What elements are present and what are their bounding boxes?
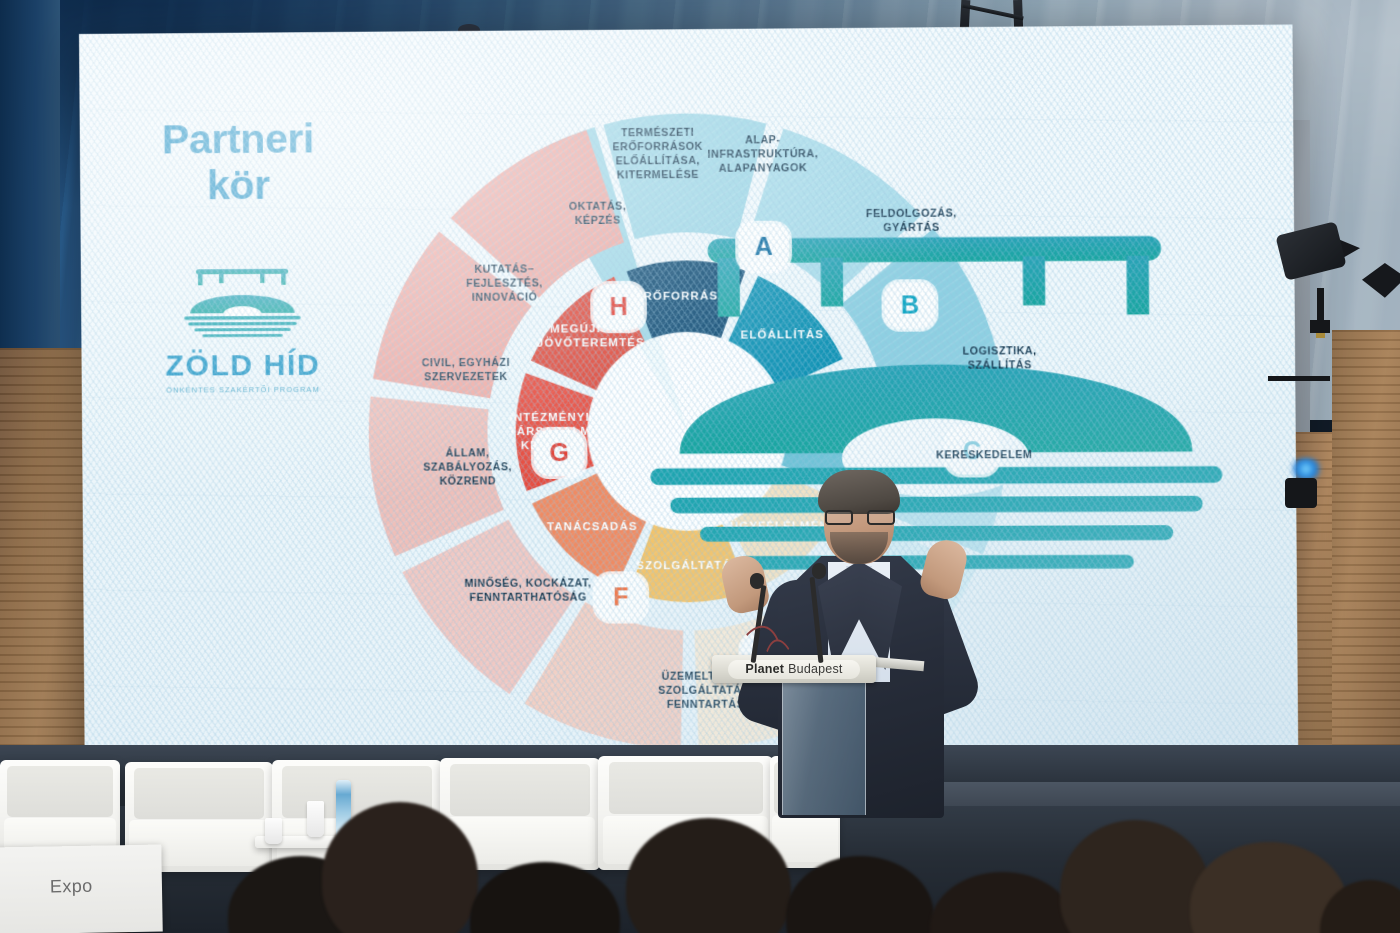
caption-civil: CIVIL, EGYHÁZI SZERVEZETEK [390, 357, 541, 386]
lectern-arm [872, 657, 925, 671]
lectern: Planet Budapest [704, 655, 924, 815]
badge-b-letter: B [901, 291, 920, 320]
caption-feldolgozas: FELDOLGOZÁS, GYÁRTÁS [835, 207, 987, 236]
glasses-lens-left [825, 510, 853, 525]
caption-alap-infra: ALAP- INFRASTRUKTÚRA, ALAPANYAGOK [687, 134, 839, 177]
blue-stage-light [1288, 458, 1324, 480]
sofa-back [134, 768, 264, 819]
caption-minoseg: MINŐSÉG, KOCKÁZAT, FENNTARTHATÓSÁG [437, 577, 619, 606]
bridge-icon [172, 261, 313, 348]
light-housing [1285, 478, 1317, 508]
antenna-stem [1317, 288, 1324, 324]
microphone-left-capsule [750, 573, 764, 589]
zold-hid-logo-left: ZÖLD HÍD ÖNKÉNTES SZAKÉRTŐI PROGRAM [147, 260, 339, 394]
caption-kutatas: KUTATÁS– FEJLESZTÉS, INNOVÁCIÓ [429, 263, 580, 306]
paper-cup-tall [307, 801, 324, 837]
expo-sign-text: Expo [50, 876, 93, 898]
speaker-hand-right [918, 536, 971, 602]
antenna-crossbar [1268, 376, 1330, 381]
microphone-right-capsule [812, 563, 826, 579]
caption-kereskedelem: KERESKEDELEM [908, 449, 1060, 464]
wood-wall-right [1332, 330, 1400, 800]
badge-a-letter: A [754, 232, 773, 261]
badge-a[interactable]: A [738, 224, 789, 271]
sofa-seat [772, 815, 838, 862]
slide-title: Partneri kör [118, 116, 359, 210]
sofa-back [450, 764, 591, 816]
led-screen: Partneri kör [79, 24, 1299, 802]
sofa-back [7, 766, 113, 817]
badge-g-letter: G [549, 438, 569, 467]
badge-b[interactable]: B [884, 282, 935, 329]
slide-title-line-1: Partneri [162, 115, 315, 162]
speaker-hair [818, 470, 900, 514]
antenna-clamp [1310, 320, 1330, 333]
expo-sign: Expo [0, 845, 163, 933]
logo-subtitle: ÖNKÉNTES SZAKÉRTŐI PROGRAM [148, 385, 339, 395]
caption-logisztika: LOGISZTIKA, SZÁLLÍTÁS [923, 345, 1076, 374]
photo-scene: Partneri kör [0, 0, 1400, 933]
badge-h-letter: H [609, 292, 627, 321]
glasses-lens-right [867, 510, 895, 525]
glasses-icon [825, 510, 895, 525]
slide-title-line-2: kör [118, 162, 359, 210]
logo-wordmark: ZÖLD HÍD [148, 349, 339, 384]
caption-allam: ÁLLAM, SZABÁLYOZÁS, KÖZREND [392, 447, 543, 490]
caption-oktatas: OKTATÁS, KÉPZÉS [522, 200, 674, 229]
paper-cup [265, 818, 282, 844]
badge-h[interactable]: H [593, 284, 644, 330]
